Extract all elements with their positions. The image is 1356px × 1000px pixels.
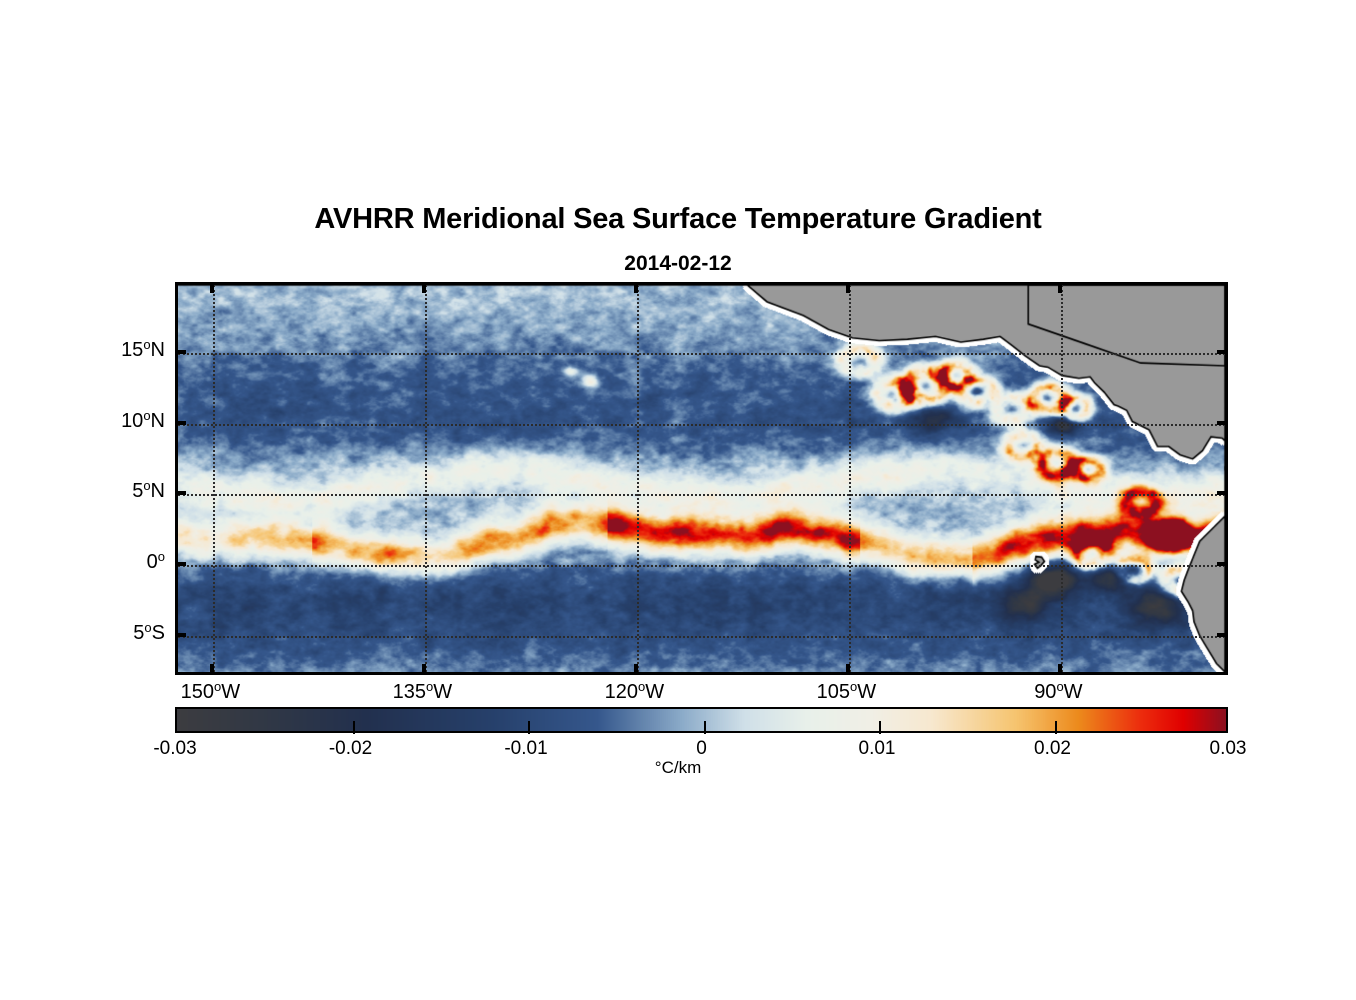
colorbar-gradient-canvas: [177, 709, 1226, 731]
x-tick-label-120°W: 120oW: [605, 679, 665, 704]
figure-root: AVHRR Meridional Sea Surface Temperature…: [0, 0, 1356, 1000]
figure-date-subtitle: 2014-02-12: [0, 252, 1356, 276]
colorbar-tick-label-0: -0.03: [153, 738, 196, 760]
y-tick: [175, 491, 186, 495]
x-tick-label-105°W: 105oW: [817, 679, 877, 704]
y-tick-right: [1217, 491, 1228, 495]
y-tick-label-0°: 0o: [147, 549, 165, 574]
x-tick-label-90°W: 90oW: [1034, 679, 1082, 704]
y-tick: [175, 350, 186, 354]
sst-gradient-heatmap-canvas: [178, 285, 1225, 672]
x-tick-top: [422, 282, 426, 293]
x-tick: [846, 664, 850, 675]
y-tick-label-5°S: 5oS: [133, 620, 165, 645]
x-tick: [422, 664, 426, 675]
x-tick: [1058, 664, 1062, 675]
page-title: AVHRR Meridional Sea Surface Temperature…: [0, 203, 1356, 236]
map-plot-area[interactable]: [175, 282, 1228, 675]
colorbar-tick: [353, 721, 355, 734]
y-tick: [175, 562, 186, 566]
x-tick-label-135°W: 135oW: [393, 679, 453, 704]
y-tick-label-10°N: 10oN: [121, 408, 165, 433]
x-tick-top: [634, 282, 638, 293]
x-tick: [210, 664, 214, 675]
y-tick-label-15°N: 15oN: [121, 337, 165, 362]
y-tick-label-5°N: 5oN: [132, 478, 165, 503]
x-tick: [634, 664, 638, 675]
colorbar-tick-label-6: 0.03: [1210, 738, 1247, 760]
x-tick-label-150°W: 150oW: [181, 679, 241, 704]
y-tick-right: [1217, 633, 1228, 637]
colorbar-tick: [704, 721, 706, 734]
colorbar-tick-label-2: -0.01: [504, 738, 547, 760]
colorbar-tick-label-4: 0.01: [859, 738, 896, 760]
colorbar-tick-label-1: -0.02: [329, 738, 372, 760]
y-tick: [175, 421, 186, 425]
x-tick-top: [846, 282, 850, 293]
x-tick-top: [210, 282, 214, 293]
colorbar-tick: [1055, 721, 1057, 734]
colorbar-tick: [879, 721, 881, 734]
colorbar[interactable]: [175, 707, 1228, 733]
colorbar-tick-label-5: 0.02: [1034, 738, 1071, 760]
y-tick-right: [1217, 421, 1228, 425]
y-tick: [175, 633, 186, 637]
y-tick-right: [1217, 350, 1228, 354]
colorbar-tick: [528, 721, 530, 734]
x-tick-top: [1058, 282, 1062, 293]
y-tick-right: [1217, 562, 1228, 566]
colorbar-tick-label-3: 0: [696, 738, 707, 760]
colorbar-unit-label: °C/km: [0, 758, 1356, 778]
